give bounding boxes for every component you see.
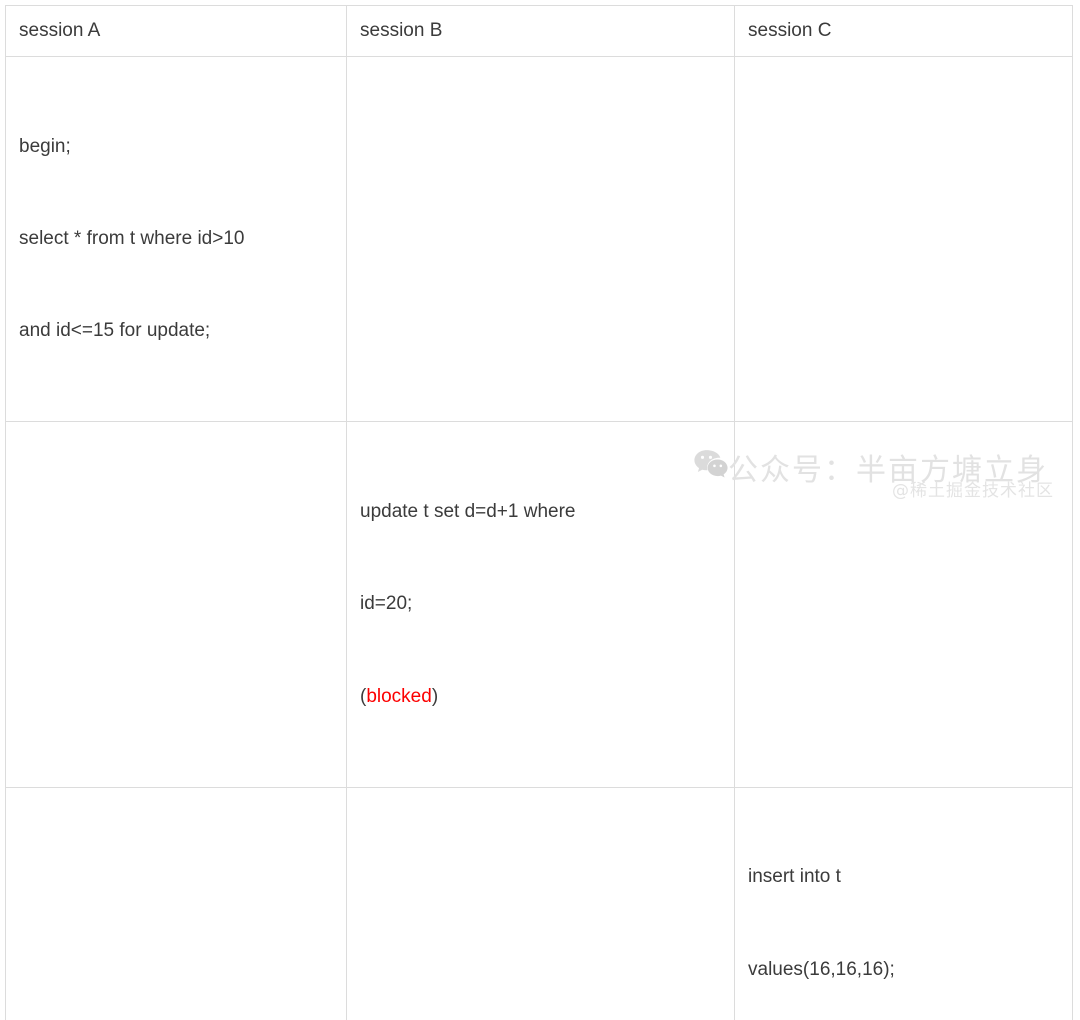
cell-session-c-step2-empty xyxy=(735,422,1073,787)
sql-block: begin; select * from t where id>10 and i… xyxy=(6,57,346,421)
sql-line: select * from t where id>10 xyxy=(19,224,336,255)
cell-session-a-step1: begin; select * from t where id>10 and i… xyxy=(6,57,347,422)
table-body: begin; select * from t where id>10 and i… xyxy=(6,57,1073,1020)
empty-block xyxy=(735,422,1072,448)
table-header: session A session B session C xyxy=(6,6,1073,57)
table-header-row: session A session B session C xyxy=(6,6,1073,57)
session-timeline-table: session A session B session C begin; sel… xyxy=(5,5,1073,1020)
cell-session-a-step2-empty xyxy=(6,422,347,787)
sql-block: update t set d=d+1 where id=20; (blocked… xyxy=(347,422,734,786)
sql-line: values(16,16,16); xyxy=(748,955,1062,986)
empty-block xyxy=(347,57,734,83)
sql-line: insert into t xyxy=(748,862,1062,893)
empty-block xyxy=(347,788,734,814)
column-header-session-c: session C xyxy=(735,6,1073,57)
sql-line: begin; xyxy=(19,132,336,163)
sql-block: insert into t values(16,16,16); (blocked… xyxy=(735,788,1072,1020)
table-row: update t set d=d+1 where id=20; (blocked… xyxy=(6,422,1073,787)
empty-block xyxy=(6,422,346,448)
cell-session-c-step1-empty xyxy=(735,57,1073,422)
cell-session-c-step3: insert into t values(16,16,16); (blocked… xyxy=(735,787,1073,1020)
column-header-session-a: session A xyxy=(6,6,347,57)
cell-session-b-step3-empty xyxy=(347,787,735,1020)
blocked-label: blocked xyxy=(366,686,432,707)
cell-session-b-step2: update t set d=d+1 where id=20; (blocked… xyxy=(347,422,735,787)
table-row: begin; select * from t where id>10 and i… xyxy=(6,57,1073,422)
page-root: session A session B session C begin; sel… xyxy=(0,0,1080,510)
sql-line: id=20; xyxy=(360,589,724,620)
empty-block xyxy=(6,788,346,814)
cell-session-b-step1-empty xyxy=(347,57,735,422)
cell-session-a-step3-empty xyxy=(6,787,347,1020)
sql-line: and id<=15 for update; xyxy=(19,316,336,347)
blocked-marker: (blocked) xyxy=(360,682,724,713)
column-header-session-b: session B xyxy=(347,6,735,57)
sql-line: update t set d=d+1 where xyxy=(360,497,724,528)
empty-block xyxy=(735,57,1072,83)
table-row: insert into t values(16,16,16); (blocked… xyxy=(6,787,1073,1020)
blocked-close-paren: ) xyxy=(432,686,438,707)
